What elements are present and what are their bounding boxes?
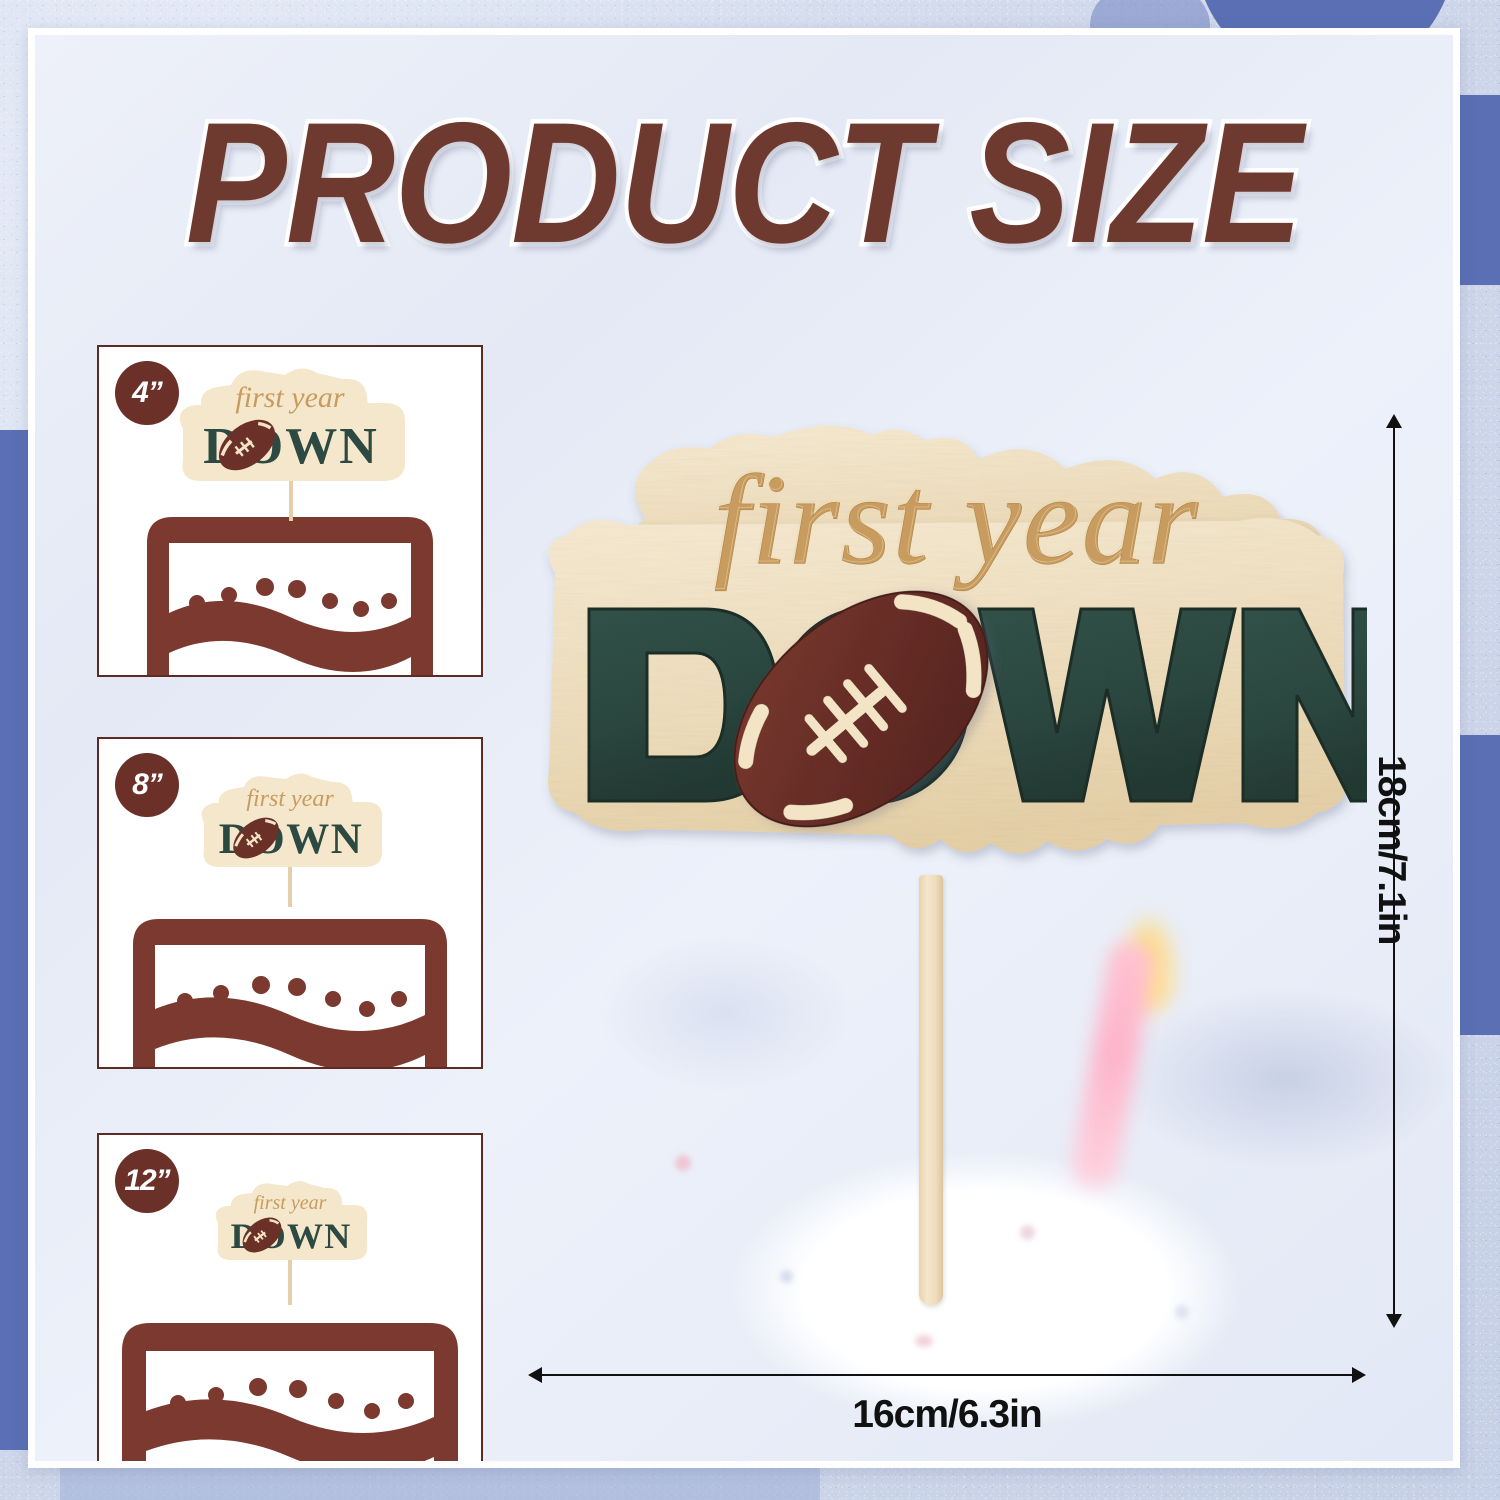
sprinkle xyxy=(1020,1225,1035,1240)
mini-topper-8in: first year DOWN xyxy=(190,769,390,914)
size-card-4in[interactable]: 4” xyxy=(97,345,483,677)
size-badge-4in: 4” xyxy=(115,361,179,425)
sprinkle xyxy=(675,1155,691,1171)
size-badge-12in: 12” xyxy=(115,1149,179,1213)
mini-topper-4in: first year DOWN xyxy=(165,363,415,528)
size-card-12in[interactable]: 12” xyxy=(97,1133,483,1461)
frame-interior: PRODUCT SIZE 4” xyxy=(35,35,1453,1461)
width-dimension-arrow xyxy=(541,1374,1353,1376)
svg-text:first year: first year xyxy=(246,786,334,812)
size-badge-8in: 8” xyxy=(115,753,179,817)
cake-illustration xyxy=(102,1303,478,1461)
product-topper: first year first year xyxy=(527,413,1367,933)
mini-topper-12in: first year DOWN xyxy=(206,1177,374,1312)
page-title: PRODUCT SIZE xyxy=(120,97,1368,269)
size-card-8in[interactable]: 8” xyxy=(97,737,483,1069)
infographic-canvas: PRODUCT SIZE 4” xyxy=(0,0,1500,1500)
wooden-stake xyxy=(919,875,943,1305)
sprinkle xyxy=(780,1270,793,1283)
svg-text:first year: first year xyxy=(713,447,1199,589)
sprinkle xyxy=(915,1335,933,1347)
cake-illustration xyxy=(111,897,469,1069)
width-dimension-label: 16cm/6.3in xyxy=(541,1393,1353,1437)
svg-text:first year: first year xyxy=(235,381,344,414)
svg-text:first year: first year xyxy=(254,1192,327,1214)
sprinkle xyxy=(1175,1305,1189,1319)
content-frame: PRODUCT SIZE 4” xyxy=(28,28,1460,1468)
height-dimension-label: 18cm/7.1in xyxy=(1369,755,1413,944)
